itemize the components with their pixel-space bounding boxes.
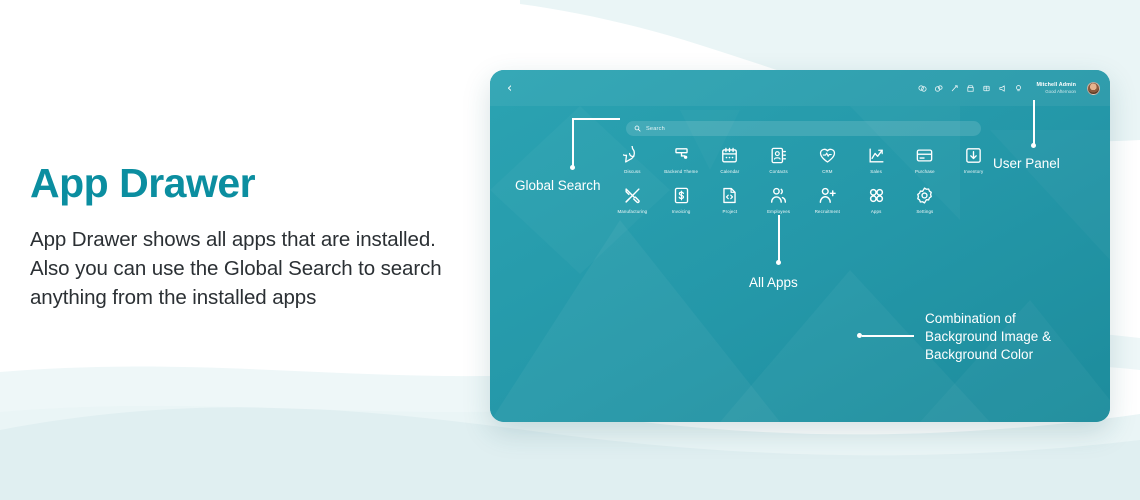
app-label: Backend Theme [664,169,698,174]
app-item-crm[interactable]: CRM [803,146,852,174]
crm-heart-icon [818,146,837,165]
annotation-label-line1: Combination of [925,310,1100,328]
manufacturing-tools-icon [623,186,642,205]
global-search-leader-vertical [572,118,574,168]
employees-icon [769,186,788,205]
search-icon [634,125,641,132]
app-label: Sales [870,169,882,174]
app-item-manufacturing[interactable]: Manufacturing [608,186,657,214]
background-leader-dot [857,333,862,338]
invoicing-dollar-icon [672,186,691,205]
app-item-calendar[interactable]: Calendar [706,146,755,174]
chevron-left-icon[interactable]: ‹ [507,82,512,95]
annotation-label: All Apps [749,274,798,292]
purchase-card-icon [915,146,934,165]
app-item-employees[interactable]: Employees [754,186,803,214]
search-input[interactable]: Search [626,121,981,136]
app-item-backend-theme[interactable]: Backend Theme [657,146,706,174]
annotation-background: Combination of Background Image & Backgr… [925,310,1100,363]
user-panel[interactable]: Mitchell Admin Good Afternoon [1036,82,1076,93]
all-apps-leader-dot [776,260,781,265]
page-description: App Drawer shows all apps that are insta… [30,225,460,312]
app-label: Inventory [964,169,983,174]
app-label: Apps [871,209,882,214]
sales-chart-icon [867,146,886,165]
annotation-label: User Panel [993,155,1060,173]
app-label: CRM [822,169,832,174]
all-apps-leader-vertical [778,215,780,263]
inventory-box-icon [964,146,983,165]
user-panel-leader-dot [1031,143,1036,148]
panel-topbar: ‹ [490,70,1110,106]
megaphone-icon[interactable] [998,84,1007,93]
search-placeholder: Search [646,126,665,132]
app-item-discuss[interactable]: Discuss [608,146,657,174]
topbar-icon-group: Mitchell Admin Good Afternoon [918,82,1100,95]
contacts-icon [769,146,788,165]
backend-theme-icon [672,146,691,165]
app-item-settings[interactable]: Settings [901,186,950,214]
background-leader-horizontal [862,335,914,337]
discuss-icon [623,146,642,165]
avatar[interactable] [1087,82,1100,95]
app-label: Discuss [624,169,640,174]
user-greeting: Good Afternoon [1036,89,1076,94]
annotation-global-search: Global Search [515,177,601,195]
messages-icon[interactable] [934,84,943,93]
grid-icon[interactable] [982,84,991,93]
app-label: Settings [916,209,933,214]
recruitment-user-plus-icon [818,186,837,205]
app-label: Recruitment [815,209,840,214]
calendar-icon [720,146,739,165]
user-panel-leader-vertical [1033,100,1035,146]
app-item-apps[interactable]: Apps [852,186,901,214]
app-label: Purchase [915,169,935,174]
annotation-label: Global Search [515,177,601,195]
app-label: Contacts [769,169,788,174]
app-label: Employees [767,209,790,214]
page-title: App Drawer [30,160,460,207]
app-drawer-panel: ‹ [490,70,1110,422]
app-item-recruitment[interactable]: Recruitment [803,186,852,214]
app-label: Manufacturing [617,209,647,214]
app-label: Invoicing [672,209,691,214]
app-item-purchase[interactable]: Purchase [901,146,950,174]
app-item-invoicing[interactable]: Invoicing [657,186,706,214]
settings-gear-icon [915,186,934,205]
user-name: Mitchell Admin [1036,82,1076,88]
left-text-block: App Drawer App Drawer shows all apps tha… [30,160,460,312]
global-search-leader-dot [570,165,575,170]
annotation-all-apps: All Apps [749,274,798,292]
apps-dots-icon [867,186,886,205]
app-item-inventory[interactable]: Inventory [949,146,998,174]
annotation-user-panel: User Panel [993,155,1060,173]
app-label: Calendar [720,169,739,174]
app-label: Project [723,209,738,214]
bulb-icon[interactable] [1014,84,1023,93]
app-item-sales[interactable]: Sales [852,146,901,174]
shop-icon[interactable] [966,84,975,93]
project-code-icon [720,186,739,205]
annotation-label-line2: Background Image & [925,328,1100,346]
annotation-label-line3: Background Color [925,346,1100,364]
activities-icon[interactable] [918,84,927,93]
app-item-project[interactable]: Project [706,186,755,214]
app-grid: Discuss Backend Theme Calendar [608,146,998,214]
bug-icon[interactable] [950,84,959,93]
app-item-contacts[interactable]: Contacts [754,146,803,174]
global-search-leader-horizontal [572,118,620,120]
